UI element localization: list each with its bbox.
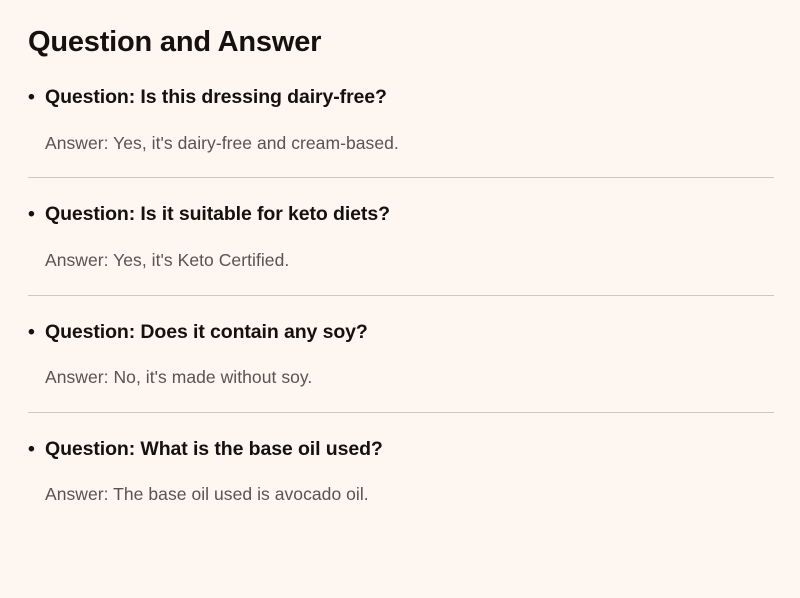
qa-question-text: Question: Does it contain any soy? bbox=[45, 321, 368, 343]
qa-question: • Question: Is this dressing dairy-free? bbox=[28, 85, 772, 110]
qa-answer-text: Answer: Yes, it's dairy-free and cream-b… bbox=[28, 132, 772, 155]
qa-answer-text: Answer: No, it's made without soy. bbox=[28, 366, 772, 389]
bullet-icon: • bbox=[28, 437, 35, 462]
qa-item: • Question: What is the base oil used? A… bbox=[28, 437, 772, 506]
qa-list: • Question: Is this dressing dairy-free?… bbox=[28, 85, 772, 505]
qa-divider bbox=[28, 412, 774, 413]
page-title: Question and Answer bbox=[28, 26, 772, 59]
qa-page: Question and Answer • Question: Is this … bbox=[0, 0, 800, 598]
qa-item: • Question: Is it suitable for keto diet… bbox=[28, 202, 772, 295]
qa-answer-text: Answer: The base oil used is avocado oil… bbox=[28, 483, 772, 506]
bullet-icon: • bbox=[28, 202, 35, 227]
qa-question-text: Question: Is this dressing dairy-free? bbox=[45, 86, 387, 108]
qa-question: • Question: What is the base oil used? bbox=[28, 437, 772, 462]
qa-question-text: Question: Is it suitable for keto diets? bbox=[45, 203, 390, 225]
qa-question: • Question: Does it contain any soy? bbox=[28, 320, 772, 345]
bullet-icon: • bbox=[28, 85, 35, 110]
qa-item: • Question: Does it contain any soy? Ans… bbox=[28, 320, 772, 413]
qa-divider bbox=[28, 295, 774, 296]
bullet-icon: • bbox=[28, 320, 35, 345]
qa-divider bbox=[28, 177, 774, 178]
qa-answer-text: Answer: Yes, it's Keto Certified. bbox=[28, 249, 772, 272]
qa-question-text: Question: What is the base oil used? bbox=[45, 438, 383, 460]
qa-item: • Question: Is this dressing dairy-free?… bbox=[28, 85, 772, 178]
qa-question: • Question: Is it suitable for keto diet… bbox=[28, 202, 772, 227]
